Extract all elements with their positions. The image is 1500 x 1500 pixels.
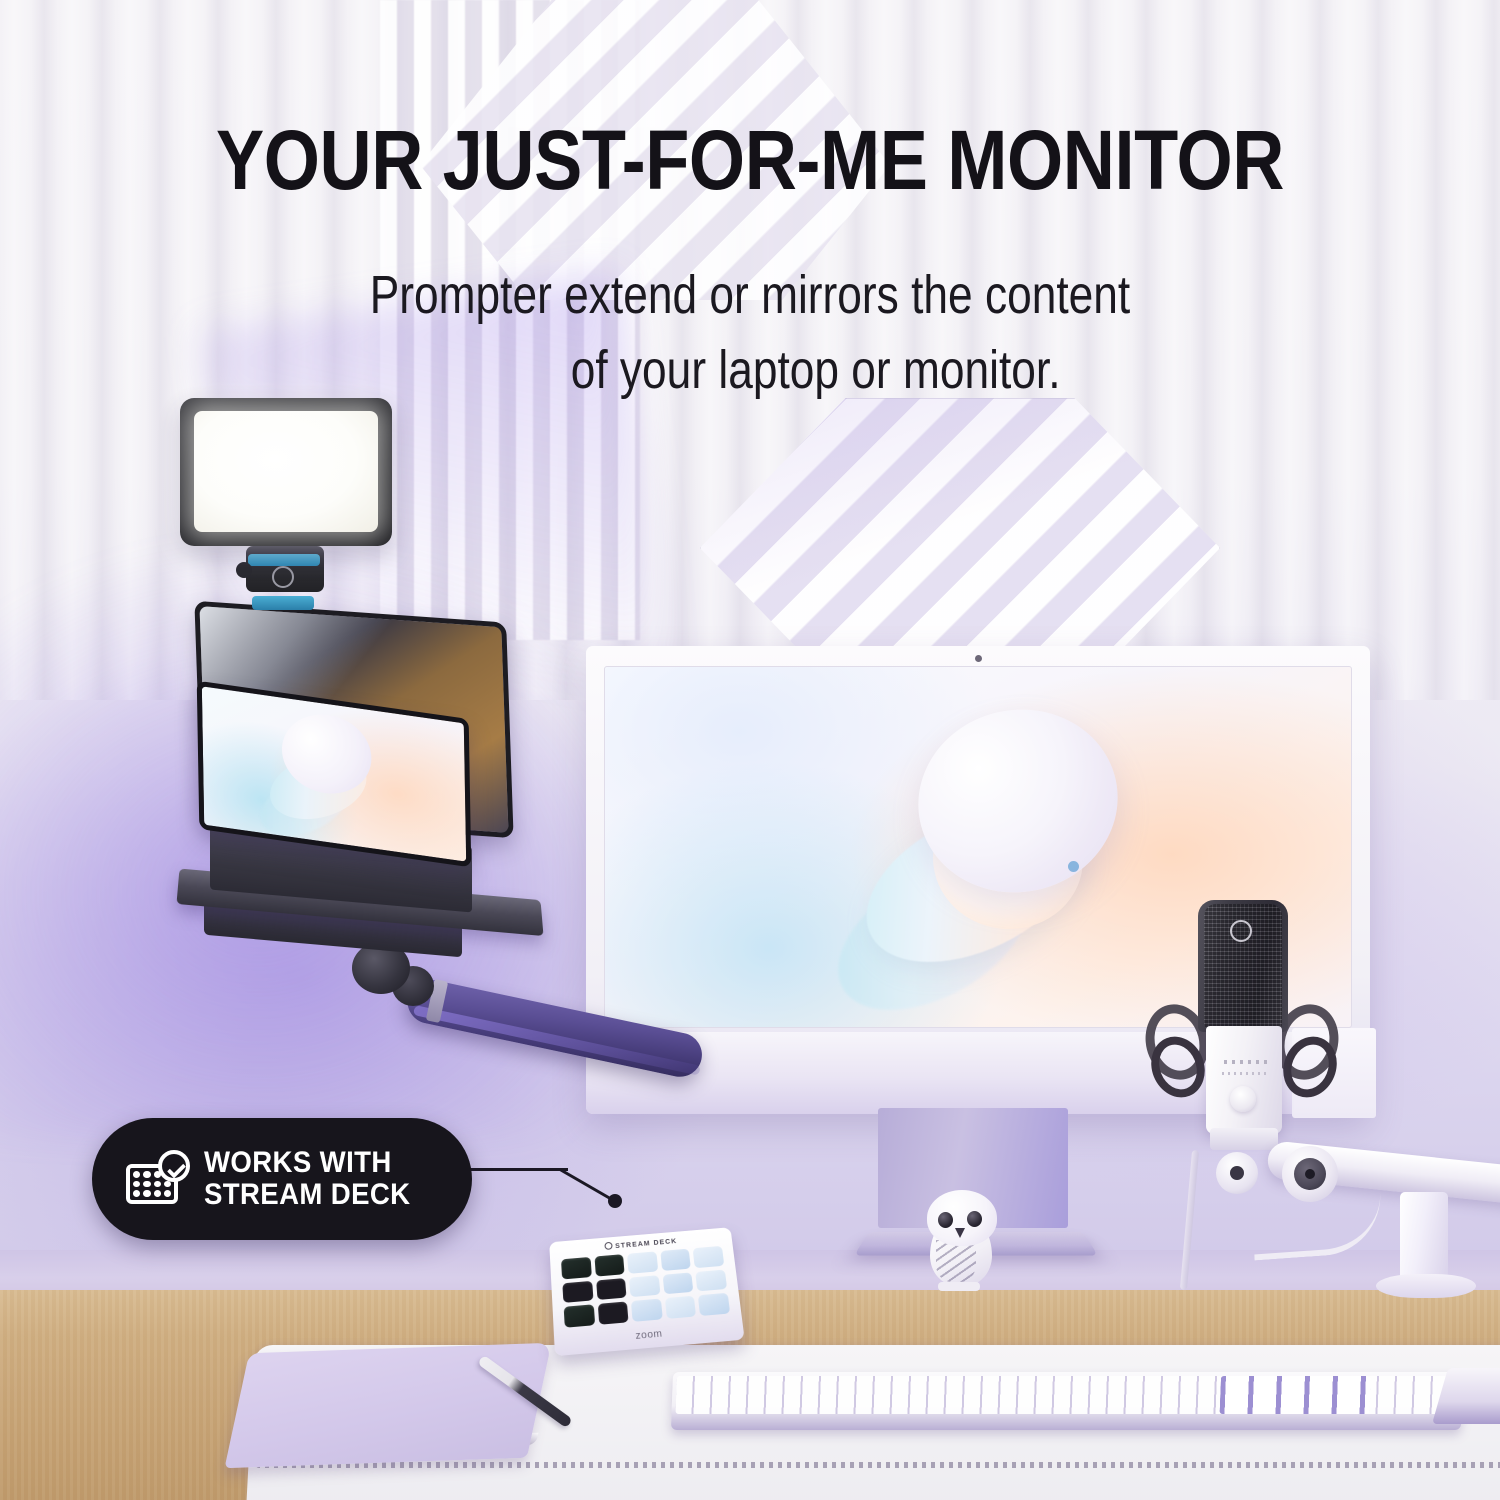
notebook [224,1343,551,1468]
badge-line-1: WORKS WITH [204,1147,410,1179]
stream-deck-key[interactable] [594,1254,625,1276]
microphone-indicator-row [1224,1060,1268,1064]
works-with-stream-deck-badge: WORKS WITH STREAM DECK [92,1118,472,1240]
microphone-level-meter [1222,1072,1270,1075]
page-title: YOUR JUST-FOR-ME MONITOR [105,118,1395,202]
wallpaper-accent-dot [1068,861,1079,872]
stream-deck-key[interactable] [693,1246,724,1268]
stream-deck-brand-text: STREAM DECK [615,1238,678,1250]
boom-desk-pole [1400,1192,1448,1284]
microphone-gain-knob[interactable] [1230,1086,1256,1112]
stream-deck-key[interactable] [698,1293,730,1316]
owl-eye-right [967,1211,982,1227]
stream-deck-check-icon [126,1152,188,1206]
light-mount-blue-ring-top [248,554,320,566]
stream-deck-key[interactable] [596,1278,627,1301]
stream-deck-key[interactable] [696,1269,728,1291]
microphone-yoke [1210,1128,1278,1150]
owl-eye-left [938,1212,953,1228]
key-light [180,398,392,546]
stream-deck-key[interactable] [631,1299,663,1322]
stream-deck-key[interactable] [660,1249,691,1271]
stream-deck-key[interactable] [561,1257,592,1279]
elgato-logo-icon [604,1242,612,1250]
light-mount-knob [236,562,252,578]
stream-deck-key[interactable] [597,1302,628,1325]
badge-line-2: STREAM DECK [204,1179,410,1211]
badge-leader-endpoint [608,1194,622,1208]
check-circle-icon [158,1150,190,1182]
webcam-icon [975,655,982,662]
badge-text: WORKS WITH STREAM DECK [204,1147,428,1211]
key-light-panel [194,411,378,532]
boom-arm-joint-hub [1294,1158,1326,1190]
stream-deck-key[interactable] [562,1281,593,1304]
light-mount-blue-ring-bottom [252,596,314,610]
boom-desk-pole-base [1376,1274,1476,1298]
stream-deck-key[interactable] [662,1272,693,1295]
desk-mat-stitching [256,1462,1500,1468]
boom-arm-joint-secondary [1216,1152,1258,1194]
stream-deck-device[interactable]: STREAM DECK zoom [549,1227,744,1356]
elgato-logo-icon [272,566,294,588]
stream-deck-key-grid[interactable] [561,1246,730,1328]
microphone-body [1206,1026,1282,1134]
keyboard[interactable] [671,1372,1463,1430]
subtitle-line-1: Prompter extend or mirrors the content [370,265,1130,325]
subtitle-line-2: of your laptop or monitor. [135,333,1365,408]
stream-deck-key[interactable] [627,1251,658,1273]
owl-beak [955,1228,965,1238]
product-scene: STREAM DECK zoom [0,0,1500,1500]
stream-deck-key[interactable] [665,1296,697,1319]
page-subtitle: Prompter extend or mirrors the content o… [135,258,1365,407]
stream-deck-key[interactable] [564,1305,595,1328]
microphone-brand-icon [1230,920,1252,942]
keyboard-numpad [1220,1376,1371,1414]
owl-feet [938,1282,980,1291]
stream-deck-key[interactable] [629,1275,660,1298]
